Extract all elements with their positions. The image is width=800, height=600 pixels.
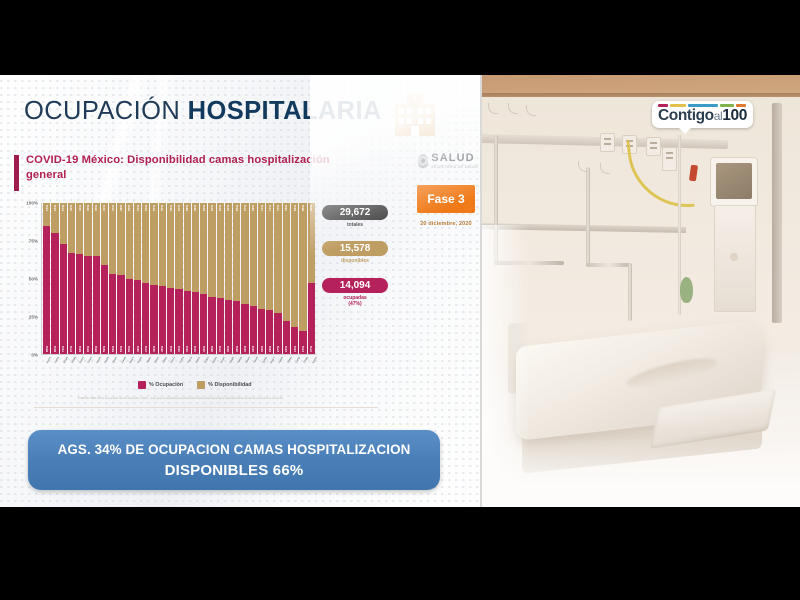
legend-label: % Disponibilidad xyxy=(208,382,251,388)
bar-segment-ocupacion: 27% xyxy=(274,313,281,354)
chart-bar: 55%45% xyxy=(159,203,166,354)
chart-bar: 53%47% xyxy=(142,203,149,354)
bar-segment-disponibilidad: 53% xyxy=(308,203,315,283)
sheet-fold xyxy=(625,353,719,394)
bar-value-label: 35% xyxy=(235,346,239,352)
caption-banner: AGS. 34% DE OCUPACION CAMAS HOSPITALIZAC… xyxy=(28,430,440,490)
chart-bar: 56%44% xyxy=(167,203,174,354)
bar-value-label: 50% xyxy=(127,346,131,352)
wall-outlet-1 xyxy=(600,133,615,152)
salud-wordmark: SALUD xyxy=(431,153,478,164)
bar-segment-ocupacion: 32% xyxy=(250,306,257,354)
green-oxygen-bag xyxy=(680,277,693,303)
bar-value-label: 36% xyxy=(226,346,230,352)
bar-segment-disponibilidad: 68% xyxy=(250,203,257,306)
mexico-seal-icon xyxy=(418,154,428,169)
bar-value-label: 80% xyxy=(53,346,57,352)
bar-segment-disponibilidad: 63% xyxy=(217,203,224,298)
chart-bar: 65%35% xyxy=(233,203,240,354)
broadcast-frame: OCUPACIÓN HOSPITALARIA COVID-19 México: … xyxy=(0,0,800,600)
chart-bar: 47%53% xyxy=(109,203,116,354)
bar-value-label: 65% xyxy=(94,346,98,352)
chart-bar: 53%47% xyxy=(308,203,315,354)
chart-bar: 41%59% xyxy=(101,203,108,354)
chart-x-axis-labels: Nuevo LeónCiudad de MéxicoEstado de Méxi… xyxy=(41,356,316,376)
bar-segment-ocupacion: 67% xyxy=(68,253,75,354)
chart-bar: 54%46% xyxy=(150,203,157,354)
bar-segment-ocupacion: 47% xyxy=(142,283,149,354)
chart-bar: 63%37% xyxy=(217,203,224,354)
caption-line-1: AGS. 34% DE OCUPACION CAMAS HOSPITALIZAC… xyxy=(58,442,411,457)
bar-value-label: 55% xyxy=(160,205,164,211)
bar-value-label: 33% xyxy=(243,346,247,352)
chart-bar: 60%40% xyxy=(200,203,207,354)
callout-caption: disponibles xyxy=(322,258,388,264)
chart-bar: 20%80% xyxy=(51,203,58,354)
bar-value-label: 85% xyxy=(301,205,305,211)
chart-bar: 62%38% xyxy=(208,203,215,354)
bar-value-label: 65% xyxy=(235,205,239,211)
chart-bar: 64%36% xyxy=(225,203,232,354)
bar-segment-ocupacion: 45% xyxy=(159,286,166,354)
bar-segment-disponibilidad: 64% xyxy=(225,203,232,300)
bar-value-label: 59% xyxy=(193,205,197,211)
bar-segment-disponibilidad: 82% xyxy=(291,203,298,327)
bar-value-label: 45% xyxy=(160,346,164,352)
y-axis-tick: 25% xyxy=(29,315,38,320)
bar-value-label: 47% xyxy=(111,205,115,211)
chart-bar: 67%33% xyxy=(241,203,248,354)
bar-segment-disponibilidad: 47% xyxy=(109,203,116,274)
hospital-building-icon xyxy=(393,92,437,138)
chart-bar: 68%32% xyxy=(250,203,257,354)
bar-value-label: 20% xyxy=(53,205,57,211)
bar-segment-ocupacion: 33% xyxy=(241,304,248,354)
title-word-hospitalaria: HOSPITALARIA xyxy=(188,97,382,125)
chart-bar: 78%22% xyxy=(283,203,290,354)
chart-bar: 34%66% xyxy=(76,203,83,354)
bar-segment-ocupacion: 85% xyxy=(43,226,50,354)
bar-segment-disponibilidad: 57% xyxy=(175,203,182,289)
bar-segment-disponibilidad: 78% xyxy=(283,203,290,321)
bar-segment-disponibilidad: 67% xyxy=(241,203,248,304)
bar-value-label: 73% xyxy=(276,205,280,211)
logo-word-al: al xyxy=(714,109,723,123)
bar-value-label: 56% xyxy=(169,205,173,211)
bar-value-label: 63% xyxy=(218,205,222,211)
bar-value-label: 47% xyxy=(144,346,148,352)
bar-value-label: 34% xyxy=(78,205,82,211)
x-axis-tick-label: Nacional xyxy=(311,356,332,372)
bar-value-label: 35% xyxy=(86,205,90,211)
chart-bar: 35%65% xyxy=(93,203,100,354)
bar-value-label: 46% xyxy=(152,346,156,352)
bar-value-label: 18% xyxy=(293,346,297,352)
bar-segment-ocupacion: 41% xyxy=(192,292,199,354)
monitor-knob-icon xyxy=(730,253,738,261)
salud-subtitle: SECRETARÍA DE SALUD xyxy=(431,165,478,169)
bar-value-label: 49% xyxy=(136,346,140,352)
bar-segment-ocupacion: 65% xyxy=(84,256,91,354)
chart-bar: 58%42% xyxy=(184,203,191,354)
occupancy-chart: 100%75%50%25%0% 15%85%20%80%27%73%33%67%… xyxy=(18,203,388,378)
bar-segment-ocupacion: 43% xyxy=(175,289,182,354)
chart-bar: 82%18% xyxy=(291,203,298,354)
bar-value-label: 27% xyxy=(276,346,280,352)
bar-value-label: 65% xyxy=(86,346,90,352)
bar-value-label: 47% xyxy=(309,346,313,352)
bar-segment-disponibilidad: 35% xyxy=(84,203,91,256)
bar-segment-disponibilidad: 62% xyxy=(208,203,215,297)
bar-value-label: 67% xyxy=(69,346,73,352)
bar-segment-disponibilidad: 53% xyxy=(142,203,149,283)
bar-segment-disponibilidad: 15% xyxy=(43,203,50,226)
accent-rule xyxy=(14,155,19,191)
bar-value-label: 66% xyxy=(78,346,82,352)
bar-segment-ocupacion: 40% xyxy=(200,294,207,354)
chart-callouts: 29,672totales15,578disponibles14,094ocup… xyxy=(322,205,388,307)
chart-bar: 71%29% xyxy=(266,203,273,354)
bar-segment-disponibilidad: 33% xyxy=(68,203,75,253)
legend-item: % Ocupación xyxy=(138,381,183,389)
bar-segment-ocupacion: 47% xyxy=(308,283,315,354)
bar-segment-ocupacion: 53% xyxy=(109,274,116,354)
bar-segment-disponibilidad: 55% xyxy=(159,203,166,286)
bar-segment-ocupacion: 15% xyxy=(299,331,306,354)
bar-segment-ocupacion: 38% xyxy=(208,297,215,354)
bar-value-label: 15% xyxy=(45,205,49,211)
bar-segment-ocupacion: 22% xyxy=(283,321,290,354)
bar-segment-ocupacion: 36% xyxy=(225,300,232,354)
title-word-ocupacion: OCUPACIÓN xyxy=(24,97,180,125)
salud-logo: SALUD SECRETARÍA DE SALUD xyxy=(418,153,478,169)
bar-segment-disponibilidad: 35% xyxy=(93,203,100,256)
chart-y-axis: 100%75%50%25%0% xyxy=(18,203,40,355)
contigo-al-100-logo: Contigoal100 xyxy=(652,101,753,128)
chart-bar: 33%67% xyxy=(68,203,75,354)
bar-value-label: 22% xyxy=(284,346,288,352)
chart-bar: 50%50% xyxy=(126,203,133,354)
chart-bar: 73%27% xyxy=(274,203,281,354)
bar-value-label: 41% xyxy=(102,205,106,211)
chart-bar: 35%65% xyxy=(84,203,91,354)
bar-value-label: 53% xyxy=(144,205,148,211)
bar-value-label: 71% xyxy=(268,205,272,211)
chart-bar: 15%85% xyxy=(43,203,50,354)
bar-value-label: 51% xyxy=(136,205,140,211)
bar-value-label: 42% xyxy=(185,346,189,352)
bar-segment-disponibilidad: 50% xyxy=(126,203,133,279)
logo-word-100: 100 xyxy=(722,107,747,124)
bar-value-label: 30% xyxy=(260,346,264,352)
y-axis-tick: 50% xyxy=(29,277,38,282)
bar-segment-disponibilidad: 54% xyxy=(150,203,157,285)
bar-segment-ocupacion: 52% xyxy=(117,275,124,354)
bar-value-label: 70% xyxy=(260,205,264,211)
bar-value-label: 32% xyxy=(251,346,255,352)
bar-segment-disponibilidad: 60% xyxy=(200,203,207,294)
bar-segment-disponibilidad: 59% xyxy=(192,203,199,292)
bar-segment-disponibilidad: 41% xyxy=(101,203,108,265)
y-axis-tick: 75% xyxy=(29,239,38,244)
bar-segment-disponibilidad: 27% xyxy=(60,203,67,244)
bar-value-label: 53% xyxy=(111,346,115,352)
bar-segment-disponibilidad: 56% xyxy=(167,203,174,288)
legend-swatch xyxy=(197,381,205,389)
bar-segment-disponibilidad: 70% xyxy=(258,203,265,309)
bar-segment-ocupacion: 59% xyxy=(101,265,108,354)
bar-value-label: 38% xyxy=(210,346,214,352)
bar-value-label: 67% xyxy=(243,205,247,211)
bar-value-label: 15% xyxy=(301,346,305,352)
bar-value-label: 78% xyxy=(284,205,288,211)
bar-value-label: 58% xyxy=(185,205,189,211)
chart-bar: 70%30% xyxy=(258,203,265,354)
bar-value-label: 44% xyxy=(169,346,173,352)
monitor-screen xyxy=(716,163,752,199)
bar-segment-ocupacion: 46% xyxy=(150,285,157,354)
bar-value-label: 64% xyxy=(226,205,230,211)
bar-value-label: 59% xyxy=(102,346,106,352)
chart-bar: 85%15% xyxy=(299,203,306,354)
bar-segment-ocupacion: 35% xyxy=(233,301,240,354)
bar-segment-ocupacion: 49% xyxy=(134,280,141,354)
phase-badge: Fase 3 xyxy=(417,185,475,213)
bar-segment-ocupacion: 29% xyxy=(266,310,273,354)
photo-bottom-fade xyxy=(482,437,800,507)
callout-caption: totales xyxy=(322,222,388,228)
bar-value-label: 33% xyxy=(69,205,73,211)
bar-segment-ocupacion: 80% xyxy=(51,233,58,354)
bar-segment-ocupacion: 18% xyxy=(291,327,298,354)
bar-segment-disponibilidad: 34% xyxy=(76,203,83,254)
legend-swatch xyxy=(138,381,146,389)
bar-value-label: 48% xyxy=(119,205,123,211)
bar-segment-ocupacion: 42% xyxy=(184,291,191,354)
logo-word-contigo: Contigo xyxy=(658,107,714,124)
legend-item: % Disponibilidad xyxy=(197,381,251,389)
logo-text: Contigoal100 xyxy=(658,108,747,124)
bar-value-label: 29% xyxy=(268,346,272,352)
bar-value-label: 73% xyxy=(61,346,65,352)
bar-segment-ocupacion: 73% xyxy=(60,244,67,354)
bar-segment-ocupacion: 66% xyxy=(76,254,83,354)
hospital-room-photo: Contigoal100 xyxy=(482,75,800,507)
bar-value-label: 60% xyxy=(202,205,206,211)
legend-label: % Ocupación xyxy=(149,382,183,388)
footer-divider xyxy=(34,407,378,408)
bar-segment-disponibilidad: 48% xyxy=(117,203,124,275)
bar-value-label: 40% xyxy=(202,346,206,352)
bar-value-label: 43% xyxy=(177,346,181,352)
patient-monitor xyxy=(710,157,758,207)
logo-speech-tail xyxy=(678,127,692,134)
callout-caption: ocupadas(47%) xyxy=(322,295,388,308)
wall-pipe-mid-horizontal xyxy=(586,263,632,267)
caption-line-2: DISPONIBLES 66% xyxy=(165,462,304,479)
video-content-area: OCUPACIÓN HOSPITALARIA COVID-19 México: … xyxy=(0,75,800,507)
bar-value-label: 35% xyxy=(94,205,98,211)
y-axis-tick: 0% xyxy=(31,353,38,358)
wall-pipe-mid-drop xyxy=(628,263,632,321)
door-frame xyxy=(772,103,782,323)
bar-value-label: 41% xyxy=(193,346,197,352)
slide-subtitle: COVID-19 México: Disponibilidad camas ho… xyxy=(26,153,356,183)
bar-segment-ocupacion: 44% xyxy=(167,288,174,354)
bar-value-label: 53% xyxy=(309,205,313,211)
bar-segment-disponibilidad: 71% xyxy=(266,203,273,310)
chart-bar: 59%41% xyxy=(192,203,199,354)
bar-value-label: 82% xyxy=(293,205,297,211)
wall-pipe-mid xyxy=(586,167,590,267)
bar-value-label: 50% xyxy=(127,205,131,211)
bar-segment-disponibilidad: 51% xyxy=(134,203,141,280)
y-axis-tick: 100% xyxy=(26,201,38,206)
bar-value-label: 54% xyxy=(152,205,156,211)
bar-value-label: 85% xyxy=(45,346,49,352)
bar-segment-disponibilidad: 65% xyxy=(233,203,240,301)
chart-plot-area: 15%85%20%80%27%73%33%67%34%66%35%65%35%6… xyxy=(41,203,316,355)
covid-slide: OCUPACIÓN HOSPITALARIA COVID-19 México: … xyxy=(0,75,482,507)
bar-value-label: 27% xyxy=(61,205,65,211)
bar-value-label: 52% xyxy=(119,346,123,352)
chart-bar: 48%52% xyxy=(117,203,124,354)
chart-bar: 27%73% xyxy=(60,203,67,354)
bar-segment-disponibilidad: 20% xyxy=(51,203,58,233)
bar-segment-disponibilidad: 58% xyxy=(184,203,191,291)
bar-segment-ocupacion: 65% xyxy=(93,256,100,354)
bar-segment-ocupacion: 50% xyxy=(126,279,133,355)
bar-value-label: 68% xyxy=(251,205,255,211)
bar-segment-disponibilidad: 73% xyxy=(274,203,281,313)
chart-legend: % Ocupación% Disponibilidad xyxy=(138,381,252,389)
bar-segment-disponibilidad: 85% xyxy=(299,203,306,331)
chart-source-note: FUENTE: RED IRAG acumulado del 20 diciem… xyxy=(78,397,378,400)
phase-date: 20 diciembre, 2020 xyxy=(408,221,484,227)
chart-bar: 51%49% xyxy=(134,203,141,354)
callout-value: 15,578 xyxy=(322,241,388,256)
callout-value: 29,672 xyxy=(322,205,388,220)
bar-segment-ocupacion: 30% xyxy=(258,309,265,354)
callout-value: 14,094 xyxy=(322,278,388,293)
bar-value-label: 37% xyxy=(218,346,222,352)
chart-bar: 57%43% xyxy=(175,203,182,354)
bar-segment-ocupacion: 37% xyxy=(217,298,224,354)
page-title: OCUPACIÓN HOSPITALARIA xyxy=(24,97,382,126)
bar-value-label: 62% xyxy=(210,205,214,211)
bar-value-label: 57% xyxy=(177,205,181,211)
